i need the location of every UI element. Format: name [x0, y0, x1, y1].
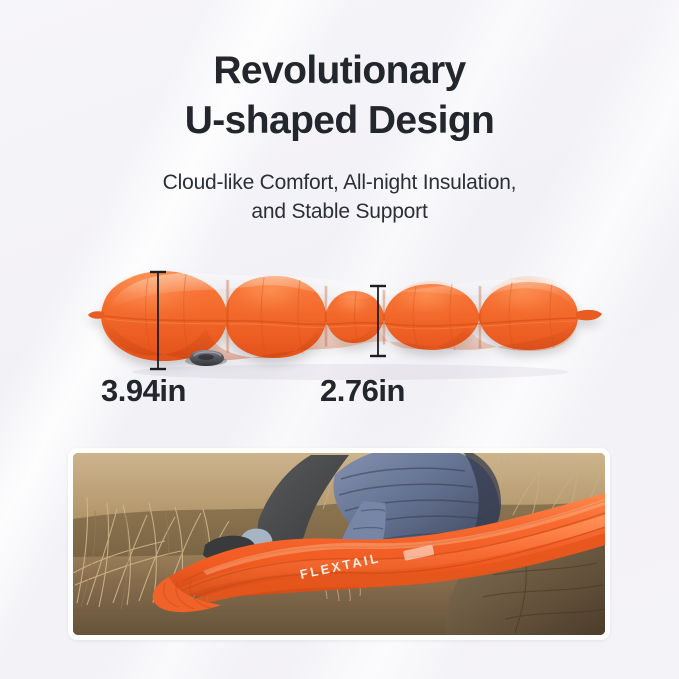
measurement-label-small: 2.76in [320, 373, 405, 409]
pad-right-tip [576, 310, 602, 321]
measurement-label-large: 3.94in [101, 373, 186, 409]
page-title: Revolutionary U-shaped Design [0, 46, 679, 146]
page-subtitle: Cloud-like Comfort, All-night Insulation… [0, 168, 679, 226]
subtitle-line-2: and Stable Support [0, 197, 679, 226]
lifestyle-photo-frame: FLEXTAIL [68, 448, 610, 640]
product-infographic-page: Revolutionary U-shaped Design Cloud-like… [0, 0, 679, 679]
subtitle-line-1: Cloud-like Comfort, All-night Insulation… [163, 171, 517, 194]
headline-line-1: Revolutionary [213, 49, 465, 92]
product-illustration [60, 252, 620, 392]
lifestyle-photo: FLEXTAIL [73, 453, 605, 635]
pad-body-group [88, 271, 602, 361]
headline-line-2: U-shaped Design [0, 96, 679, 146]
pad-left-tip [88, 311, 104, 319]
